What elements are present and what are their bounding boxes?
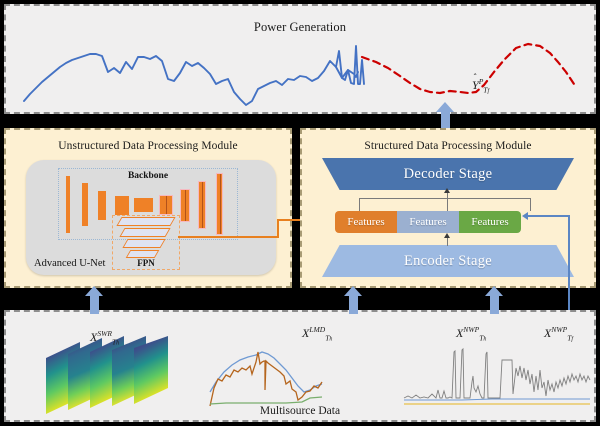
skip-bracket-mid	[447, 198, 448, 211]
arrow-swr-to-unstructured	[84, 286, 104, 314]
unet-block-3	[98, 191, 106, 220]
encoder-stage-label: Encoder Stage	[404, 253, 492, 270]
unstructured-module-title: Unstructured Data Processing Module	[6, 140, 290, 152]
features-label-1: Features	[347, 216, 384, 228]
features-box-nwp[interactable]: Features	[459, 211, 521, 233]
unet-block-1	[66, 176, 70, 233]
forecast-curve	[362, 44, 576, 93]
input-label-nwp-f: XNWPTf	[544, 326, 573, 342]
output-label: ŶPTf	[472, 78, 489, 94]
unstructured-data-processing-module: Unstructured Data Processing Module Back…	[4, 128, 292, 288]
unet-block-2	[82, 183, 88, 226]
advanced-unet-card: Backbone FPN	[26, 160, 276, 275]
features-row: Features Features Features	[335, 211, 521, 233]
figure-root: Power Generation ŶPTf Unstructured Data…	[0, 0, 600, 426]
connector-nwpf-horizontal	[528, 215, 570, 217]
swr-frames	[46, 336, 168, 414]
fpn-layer-1	[116, 217, 175, 226]
connector-nwpf-arrowhead	[522, 212, 528, 220]
connector-unet-to-features-h1	[178, 236, 279, 238]
output-label-base: Y	[472, 78, 479, 92]
structured-data-processing-module: Structured Data Processing Module Decode…	[300, 128, 596, 288]
multisource-data-panel: XSWRTh XLMDTh XNWPTh XNWPTf Multisource …	[4, 310, 596, 422]
skip-bracket-right	[530, 198, 531, 211]
unet-block-7	[180, 189, 190, 222]
decoder-feed-line	[447, 192, 448, 199]
input-label-lmd: XLMDTh	[302, 326, 332, 342]
fpn-layer-4	[126, 250, 160, 258]
connector-unet-to-features-v	[277, 220, 279, 237]
unet-block-5	[134, 198, 153, 212]
arrow-nwp-to-structured	[484, 286, 504, 314]
swr-image-stack	[46, 336, 186, 416]
unet-block-4	[115, 196, 129, 215]
encoder-stage[interactable]: Encoder Stage	[322, 245, 574, 277]
connector-nwpf-vertical	[568, 215, 570, 325]
skip-bracket-left	[359, 198, 360, 211]
history-curve	[24, 54, 358, 105]
advanced-unet-label: Advanced U-Net	[34, 258, 105, 269]
features-box-encoder[interactable]: Features	[397, 211, 459, 233]
unet-block-8	[198, 181, 206, 229]
decoder-stage[interactable]: Decoder Stage	[322, 158, 574, 190]
input-label-swr: XSWRTh	[90, 330, 119, 346]
encoder-feed-arrowhead	[444, 233, 450, 238]
lmd-chart	[206, 348, 326, 410]
structured-module-title: Structured Data Processing Module	[302, 140, 594, 152]
unet-block-6	[159, 195, 173, 215]
decoder-stage-label: Decoder Stage	[404, 166, 493, 183]
arrow-structured-to-output	[436, 102, 454, 130]
fpn-layer-3	[122, 239, 165, 248]
decoder-feed-arrowhead	[444, 188, 450, 193]
nwp-chart	[402, 346, 592, 408]
input-label-nwp-h: XNWPTh	[456, 326, 486, 342]
arrow-lmd-to-structured	[343, 286, 363, 314]
power-generation-panel: Power Generation ŶPTf	[4, 4, 596, 114]
multisource-data-caption: Multisource Data	[6, 405, 594, 417]
unet-block-9	[216, 173, 223, 235]
skip-bracket-top	[359, 198, 531, 199]
encoder-feed-line	[447, 238, 448, 246]
power-generation-chart	[6, 28, 594, 112]
fpn-layer-2	[119, 228, 170, 237]
history-curve-spike	[336, 46, 364, 84]
backbone-label: Backbone	[58, 171, 238, 181]
features-box-unstructured[interactable]: Features	[335, 211, 397, 233]
features-label-3: Features	[471, 216, 508, 228]
fpn-label: FPN	[112, 258, 180, 268]
features-label-2: Features	[409, 216, 446, 228]
output-label-subsub: f	[487, 88, 489, 94]
